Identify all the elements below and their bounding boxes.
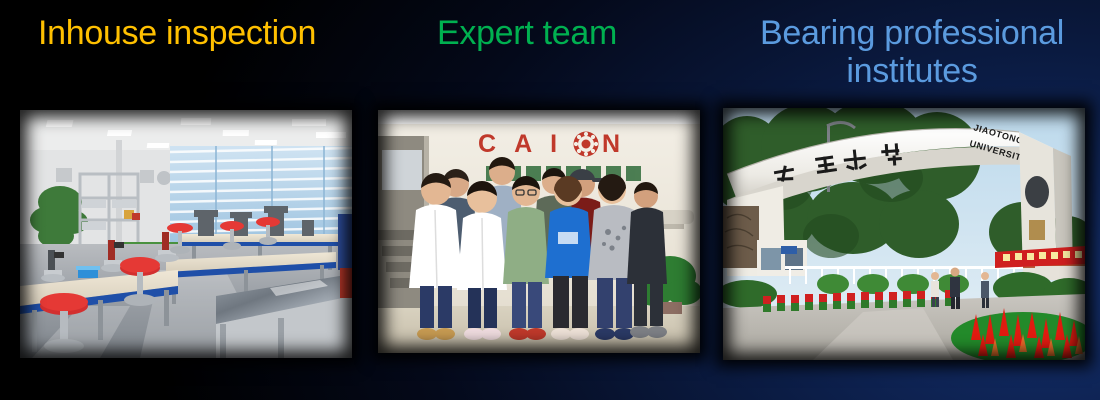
pedestrian [981,272,989,308]
slide-canvas: Inhouse inspection Expert team Bearing p… [0,0,1100,400]
inspection-lab-photo [20,110,352,358]
jiaotong-university-gate-illustration: JIAOTONG UNIVERSITY [723,108,1085,360]
svg-text:N: N [602,130,626,158]
expert-team-photo: C A I D N [378,110,700,353]
pedestrian [950,268,960,310]
panel-title-expert-team: Expert team [437,14,617,52]
expert-team-illustration: C A I D N [378,110,700,353]
bearing-logo-icon [574,132,599,157]
caidon-wall-sign: C A I D N [478,130,626,158]
panel-title-inhouse-inspection: Inhouse inspection [38,14,316,52]
pedestrian [931,272,939,307]
panel-title-bearing-professional-institutes: Bearing professional institutes [737,14,1087,90]
inspection-lab-illustration [20,110,352,358]
jiaotong-university-gate-photo: JIAOTONG UNIVERSITY [723,108,1085,360]
